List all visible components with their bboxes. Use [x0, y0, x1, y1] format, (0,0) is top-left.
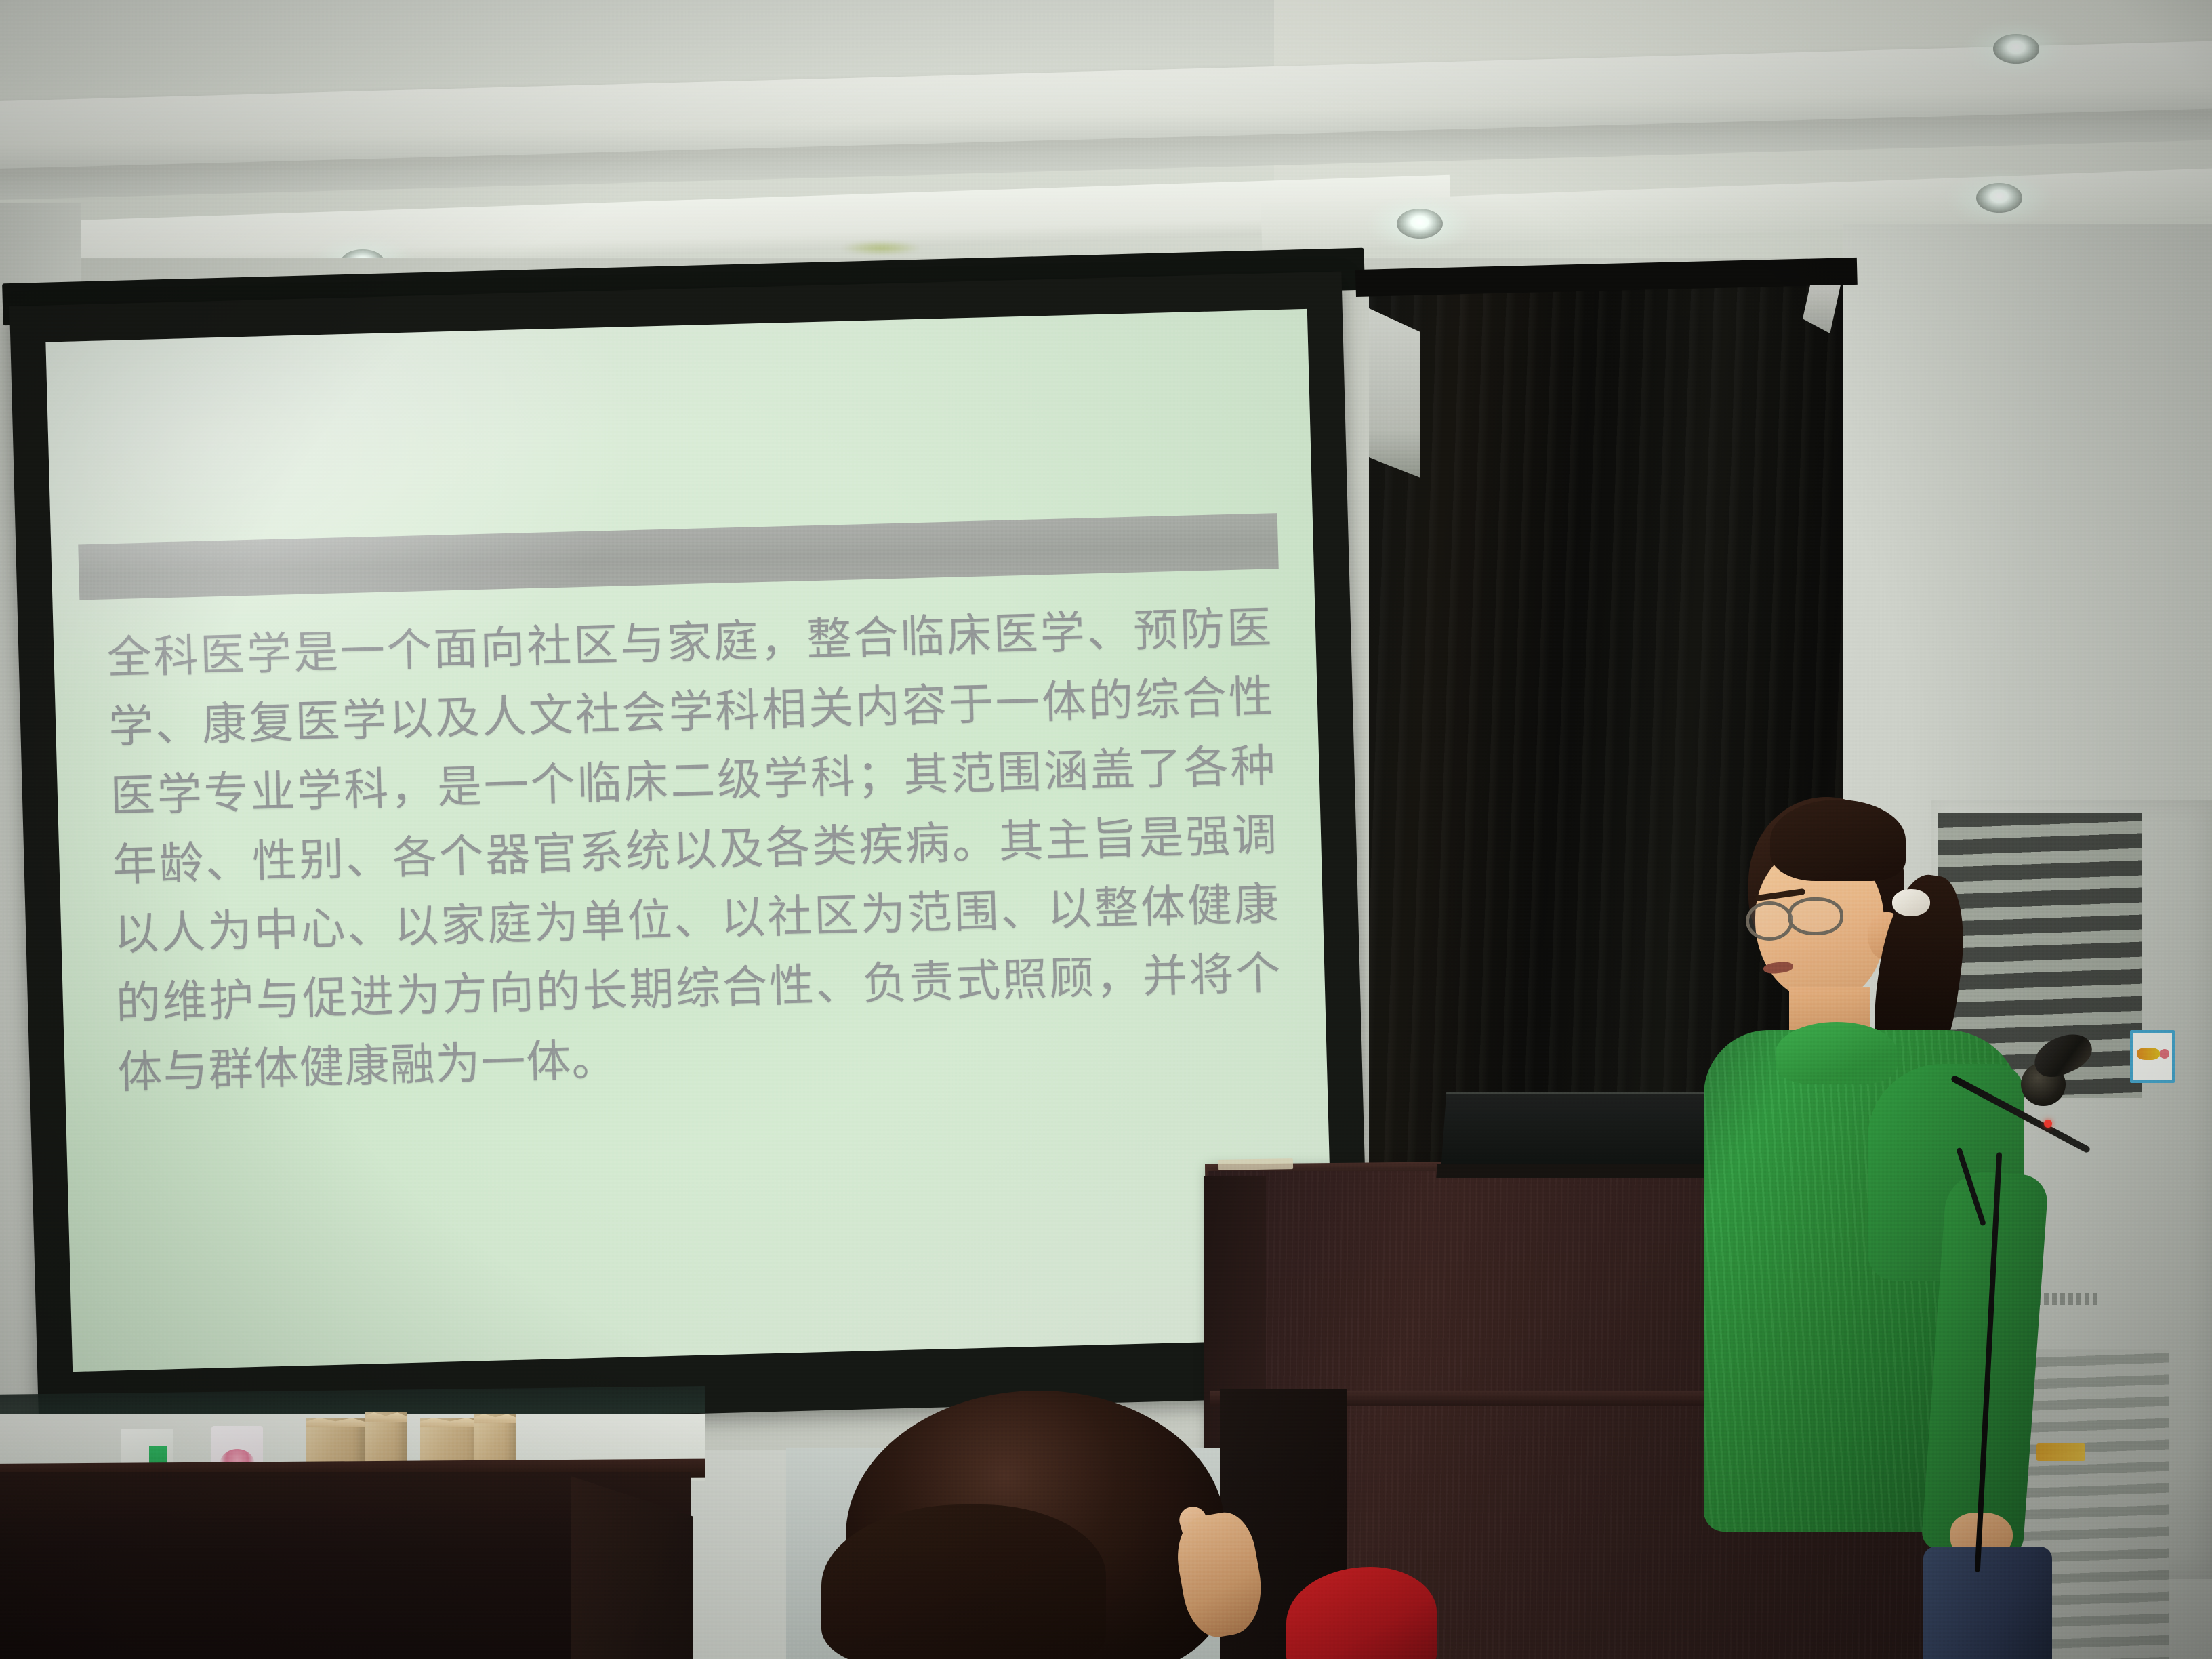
- screen-surface: 全科医学是一个面向社区与家庭，整合临床医学、预防医学、康复医学以及人文社会学科相…: [45, 309, 1334, 1372]
- glasses-icon: [1746, 901, 1793, 941]
- photograph-scene: 全科医学是一个面向社区与家庭，整合临床医学、预防医学、康复医学以及人文社会学科相…: [0, 0, 2212, 1659]
- presenter-turtleneck-collar: [1776, 1022, 1898, 1084]
- air-conditioner-sticker: [2130, 1030, 2175, 1083]
- presenter-hair-tie: [1892, 889, 1930, 916]
- projection-screen: 全科医学是一个面向社区与家庭，整合临床医学、预防医学、康复医学以及人文社会学科相…: [9, 272, 1371, 1431]
- curtain-gap-light: [1369, 308, 1420, 478]
- presenter: [1708, 793, 2060, 1659]
- podium-paper: [1218, 1158, 1293, 1170]
- presenter-trousers: [1923, 1547, 2052, 1659]
- ceiling-smudge: [840, 241, 922, 255]
- audience-member-hair: [821, 1504, 1106, 1659]
- presenter-hair-front: [1770, 800, 1906, 881]
- slide-title-band: [78, 513, 1279, 600]
- slide-body-text: 全科医学是一个面向社区与家庭，整合临床医学、预防医学、康复医学以及人文社会学科相…: [106, 593, 1284, 1107]
- laptop-base: [1436, 1164, 1735, 1178]
- microphone-led-icon: [2044, 1120, 2052, 1128]
- laptop-screen: [1441, 1092, 1732, 1174]
- glasses-icon: [1788, 897, 1843, 935]
